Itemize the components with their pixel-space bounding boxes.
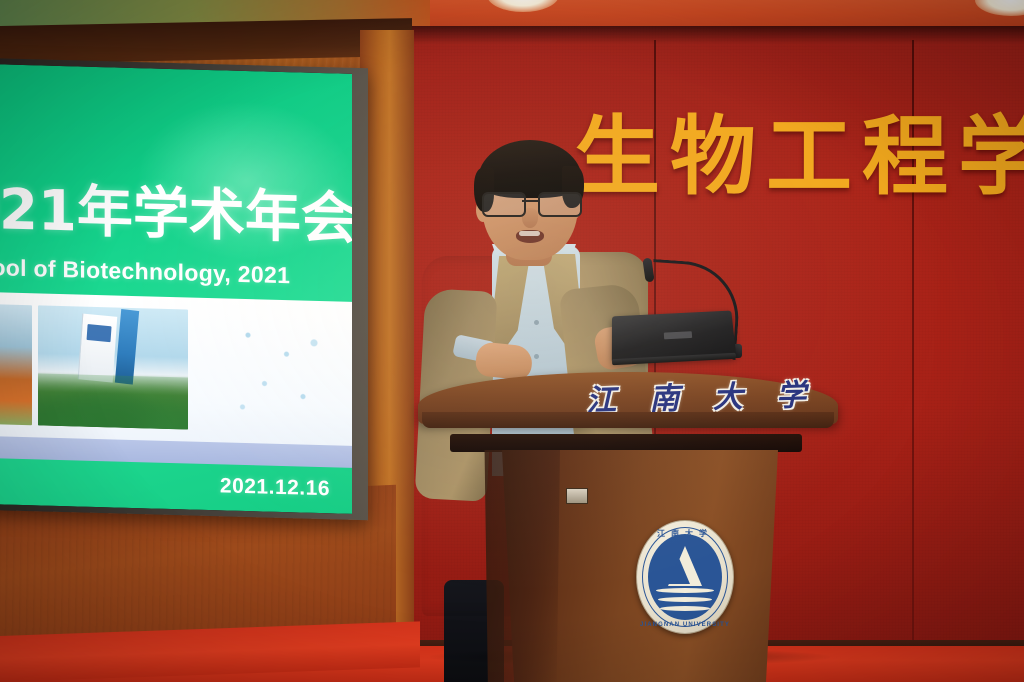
glasses-bridge [522,200,540,202]
university-emblem: 江南大学 JIANGNAN UNIVERSITY [636,520,734,634]
campus-tower [115,309,139,385]
shirt-button [534,320,539,325]
wall-top-shadow [400,26,1024,44]
lectern-latch [566,488,588,504]
wood-wall-top-beam [0,18,412,64]
presentation-slide: 021年学术年会 chool of Biotechnology, 2021 20… [0,64,352,514]
slide-water-droplets-graphic [226,310,336,433]
campus-building [78,313,118,382]
emblem-wave [658,597,712,602]
emblem-disc [648,534,722,620]
wall-char-3: 工 [766,114,852,200]
lectern-char-3: 大 [712,372,743,417]
lectern-shadow-band [450,434,802,452]
wall-char-2: 物 [670,114,756,200]
slide-title: 021年学术年会 [0,181,352,248]
laptop-logo [664,331,692,339]
lectern-char-4: 学 [775,370,806,415]
conference-photo: 生 物 工 程 学 院 021年学术年会 chool of Biotechnol… [0,0,1024,682]
slide-date: 2021.12.16 [220,474,330,501]
lens-right [538,192,582,217]
lectern: 江 南 大 学 江南大学 JIANGNAN UNIVERSITY [418,360,838,682]
projector-screen: 021年学术年会 chool of Biotechnology, 2021 20… [0,64,352,514]
wall-char-5: 学 [958,114,1024,200]
shirt-button [534,354,539,359]
lens-left [482,192,526,217]
emblem-english-text: JIANGNAN UNIVERSITY [637,622,733,628]
eyeglasses-icon [480,192,582,214]
wall-char-4: 程 [862,114,948,200]
slide-photo-center [38,305,188,429]
lectern-top-edge [422,412,834,428]
emblem-sail-inner [668,558,690,584]
emblem-wave [656,588,714,593]
teeth [519,231,540,236]
campus-trees [38,373,188,429]
lectern-body-shadow [478,450,560,682]
emblem-wave [660,606,710,611]
slide-photo-left [0,304,32,426]
